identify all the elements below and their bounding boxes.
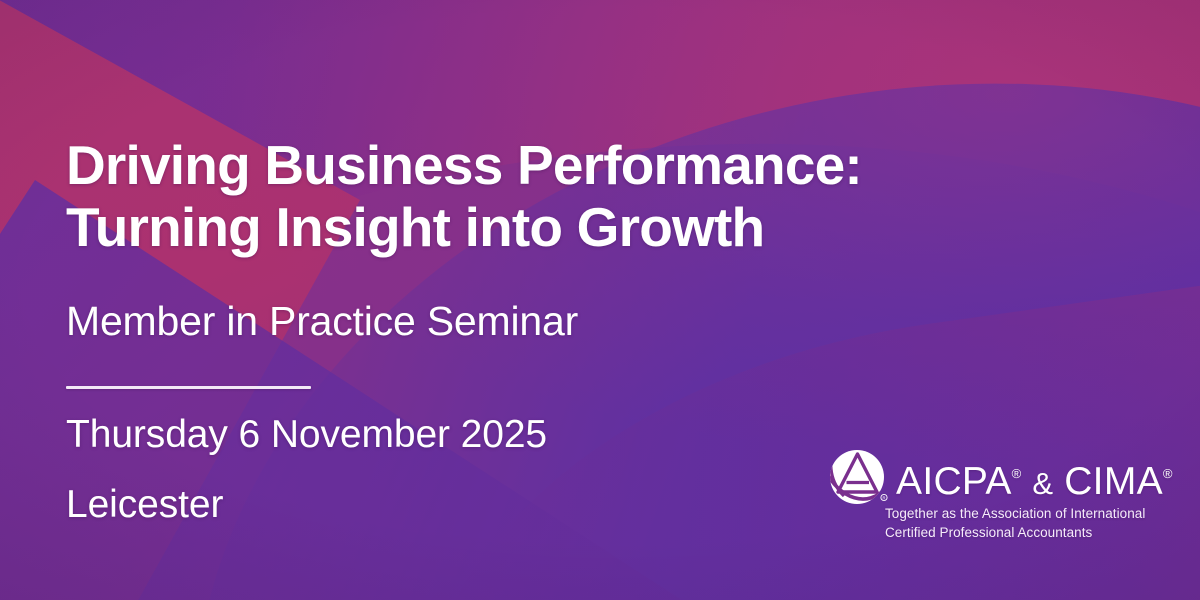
wordmark-aicpa: AICPA [896,460,1012,503]
wordmark-ampersand: & [1032,466,1053,501]
event-banner: Driving Business Performance: Turning In… [0,0,1200,600]
aicpa-cima-tagline: Together as the Association of Internati… [885,504,1147,542]
svg-text:R: R [883,495,886,500]
event-title-line-2: Turning Insight into Growth [66,196,966,258]
aicpa-cima-logo: R AICPA® & CIMA® Together as the Associa… [828,446,1146,546]
wordmark-cima-registered: ® [1163,466,1173,481]
wordmark-cima: CIMA [1064,460,1163,503]
event-date: Thursday 6 November 2025 [66,412,547,458]
aicpa-cima-globe-icon: R [828,448,890,510]
banner-content: Driving Business Performance: Turning In… [0,0,1200,600]
event-title: Driving Business Performance: Turning In… [66,134,966,258]
aicpa-cima-wordmark: AICPA® & CIMA® [896,452,1173,506]
wordmark-aicpa-registered: ® [1012,466,1022,481]
tagline-line-1: Together as the Association of Internati… [885,504,1147,523]
event-title-line-1: Driving Business Performance: [66,134,966,196]
event-location: Leicester [66,482,223,528]
event-subtitle: Member in Practice Seminar [66,297,578,345]
section-divider [66,386,311,389]
tagline-line-2: Certified Professional Accountants [885,523,1147,542]
